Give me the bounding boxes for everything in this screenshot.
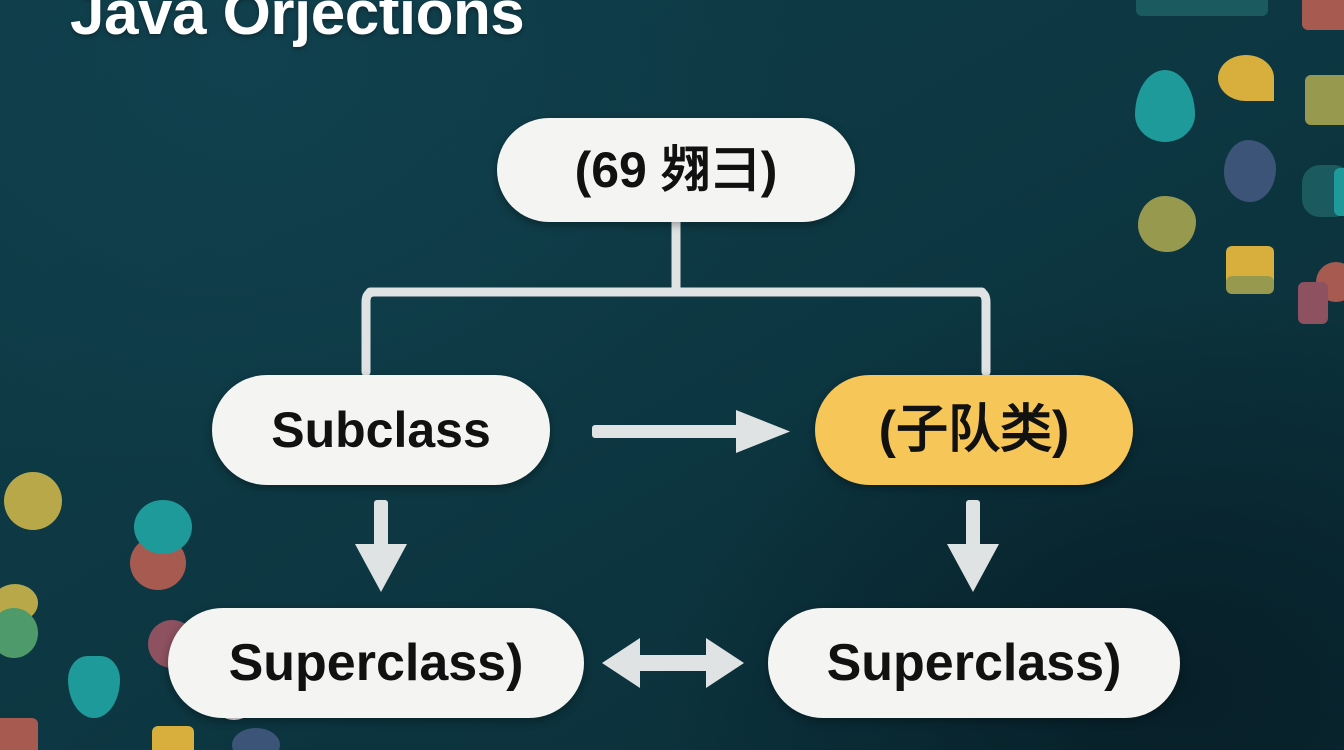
node-root[interactable]: (69 翙彐)	[497, 118, 855, 222]
node-superclass-left[interactable]: Superclass)	[168, 608, 584, 718]
connector-root-bracket	[370, 222, 982, 292]
node-superclass-right-label: Superclass)	[827, 637, 1122, 689]
arrow-sub-to-superclass-left	[355, 500, 407, 592]
slide-canvas: Java Orjections .ln { fill:none; stroke:…	[0, 0, 1344, 750]
connector-bracket-left-leg	[366, 292, 374, 372]
arrow-sub-to-child	[592, 410, 790, 453]
connector-bracket-right-leg	[978, 292, 986, 372]
arrow-child-to-superclass-right	[947, 500, 999, 592]
node-superclass-right[interactable]: Superclass)	[768, 608, 1180, 718]
node-subclass-label: Subclass	[271, 405, 491, 455]
node-child-class-label: (子队类)	[879, 404, 1070, 456]
node-root-label: (69 翙彐)	[575, 145, 778, 195]
node-child-class[interactable]: (子队类)	[815, 375, 1133, 485]
node-subclass[interactable]: Subclass	[212, 375, 550, 485]
node-superclass-left-label: Superclass)	[229, 637, 524, 689]
arrow-superclass-bidirectional	[602, 638, 744, 688]
